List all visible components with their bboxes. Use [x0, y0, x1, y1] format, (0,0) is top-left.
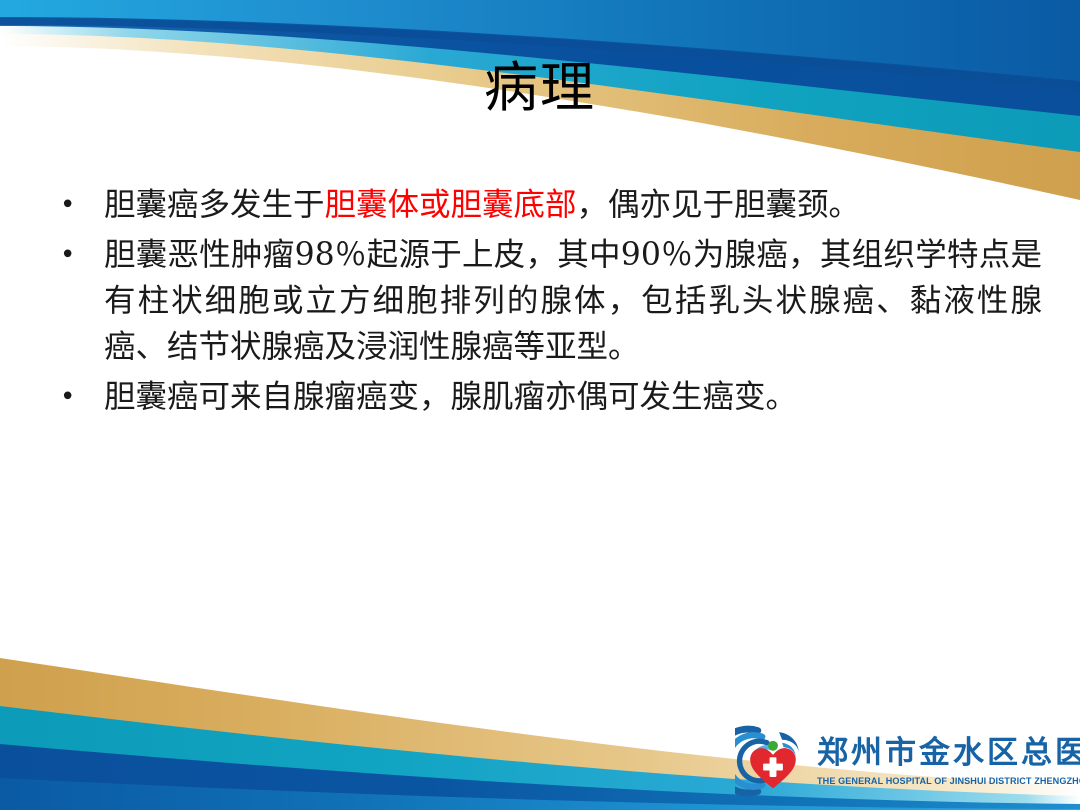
bullet-item-3: • 胆囊癌可来自腺瘤癌变，腺肌瘤亦偶可发生癌变。 — [52, 374, 1042, 420]
bullet-text-3: 胆囊癌可来自腺瘤癌变，腺肌瘤亦偶可发生癌变。 — [104, 374, 1042, 420]
slide-body: • 胆囊癌多发生于胆囊体或胆囊底部，偶亦见于胆囊颈。 • 胆囊恶性肿瘤98％起源… — [52, 182, 1042, 424]
slide-title: 病理 — [0, 58, 1080, 117]
hospital-logo-text: 郑州市金水区总医院 THE GENERAL HOSPITAL OF JINSHU… — [811, 736, 1080, 785]
hospital-name-en: THE GENERAL HOSPITAL OF JINSHUI DISTRICT… — [817, 775, 1080, 786]
hospital-logo: 郑州市金水区总医院 THE GENERAL HOSPITAL OF JINSHU… — [735, 722, 1065, 800]
slide-canvas: 病理 • 胆囊癌多发生于胆囊体或胆囊底部，偶亦见于胆囊颈。 • 胆囊恶性肿瘤98… — [0, 0, 1080, 810]
bullet-1-segment-3: ，偶亦见于胆囊颈。 — [577, 187, 861, 223]
bullet-marker-2: • — [52, 232, 104, 278]
bullet-item-2: • 胆囊恶性肿瘤98％起源于上皮，其中90％为腺癌，其组织学特点是有柱状细胞或立… — [52, 232, 1042, 370]
bullet-1-segment-highlight: 胆囊体或胆囊底部 — [325, 187, 577, 223]
bullet-text-2: 胆囊恶性肿瘤98％起源于上皮，其中90％为腺癌，其组织学特点是有柱状细胞或立方细… — [104, 232, 1042, 370]
bullet-marker-1: • — [52, 182, 104, 228]
bullet-text-1: 胆囊癌多发生于胆囊体或胆囊底部，偶亦见于胆囊颈。 — [104, 182, 1042, 228]
bullet-1-segment-1: 胆囊癌多发生于 — [104, 187, 325, 223]
bullet-item-1: • 胆囊癌多发生于胆囊体或胆囊底部，偶亦见于胆囊颈。 — [52, 182, 1042, 228]
bullet-marker-3: • — [52, 374, 104, 420]
hospital-heart-cross-swirl-icon — [735, 723, 811, 799]
hospital-name-cn: 郑州市金水区总医院 — [817, 736, 1080, 770]
